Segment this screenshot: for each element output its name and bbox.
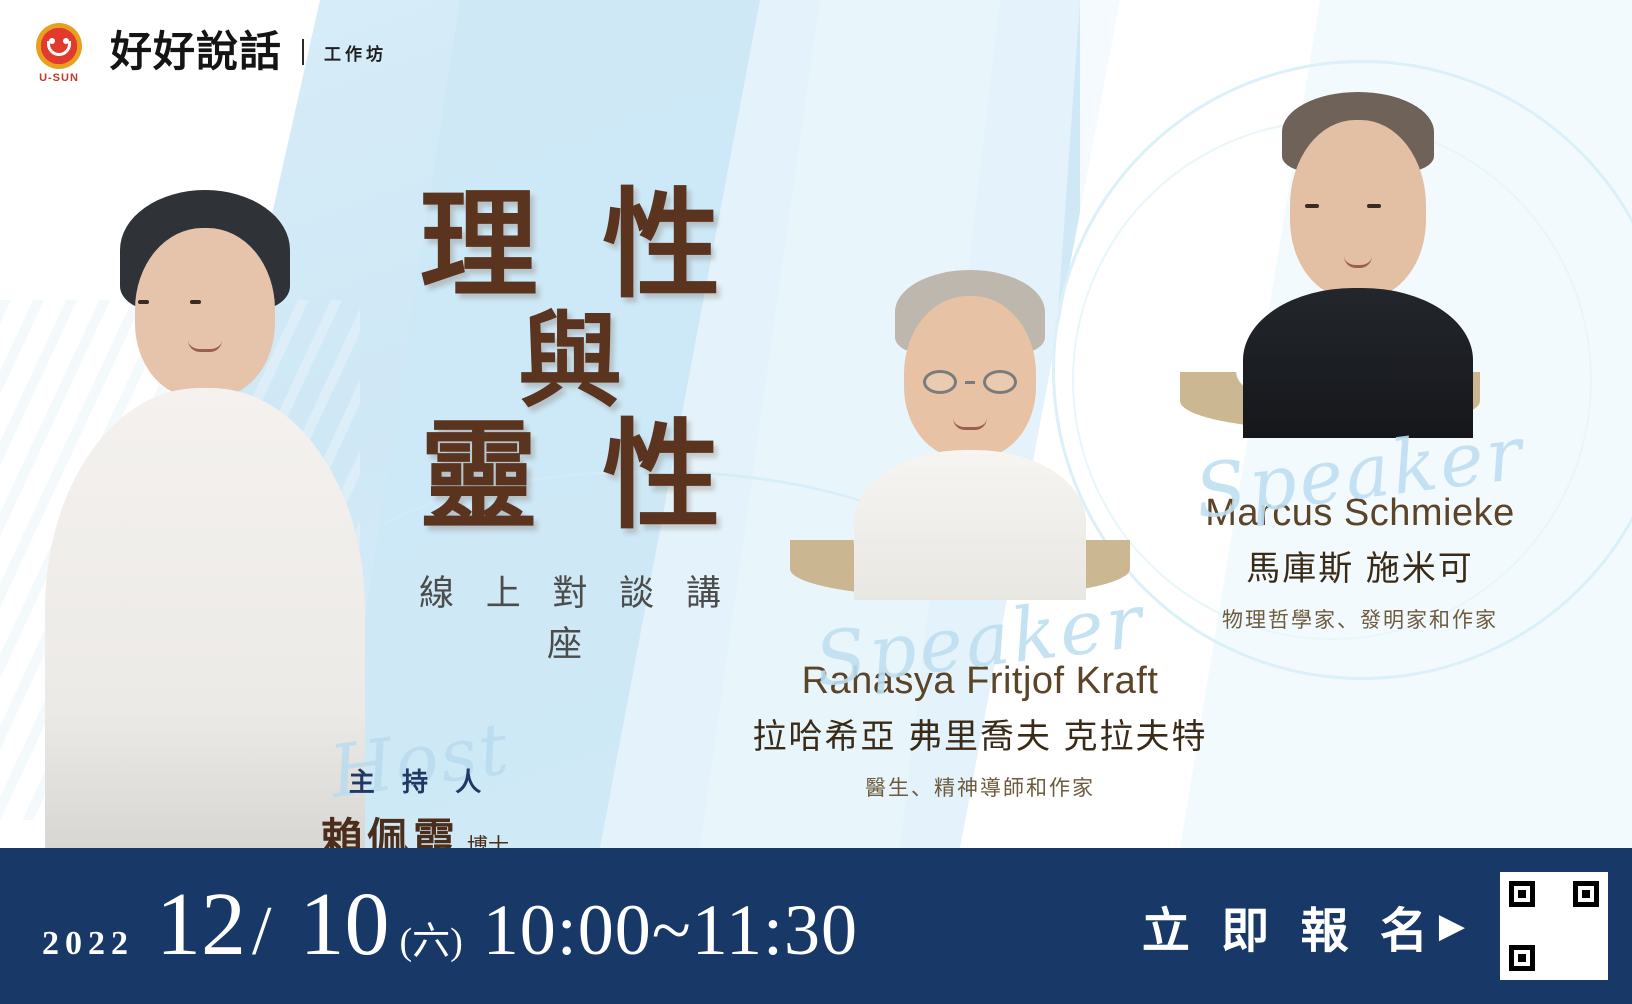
marcus-eye-right <box>1367 204 1381 208</box>
smiley-icon <box>36 23 82 69</box>
speaker-name-cn: 拉哈希亞 弗里喬夫 克拉夫特 <box>700 709 1260 758</box>
smiley-mouth-icon <box>47 41 71 56</box>
host-portrait-image <box>30 190 380 850</box>
qr-finder-bottom-left <box>1509 945 1535 971</box>
speaker-marcus-portrait-image <box>1235 92 1480 437</box>
qr-code-pattern <box>1507 879 1601 973</box>
speaker-role: 物理哲學家、發明家和作家 <box>1110 604 1610 634</box>
speaker-role: 醫生、精神導師和作家 <box>700 772 1260 802</box>
marcus-head <box>1290 120 1426 298</box>
brand-divider <box>302 39 304 65</box>
host-head <box>135 228 275 398</box>
register-button[interactable]: 立 即 報 名 ▶ <box>1142 891 1474 961</box>
qr-finder-top-left <box>1509 881 1535 907</box>
glasses-icon <box>923 370 1017 394</box>
event-poster: U-SUN 好好說話 工作坊 理 性 <box>0 0 1632 1004</box>
title-line-3: 靈 性 <box>400 416 740 539</box>
host-eye-left <box>138 300 149 304</box>
brand-name-cn: 好好說話 <box>110 31 282 73</box>
logo-wordmark: U-SUN <box>39 72 79 84</box>
event-day: 10 <box>299 880 389 970</box>
event-datetime: 2022 12 / 10 (六) 10:00~11:30 <box>42 880 858 972</box>
lens-bridge <box>965 381 975 384</box>
lens-right <box>983 370 1017 394</box>
event-time: 10:00~11:30 <box>483 889 858 972</box>
host-eye-right <box>190 300 201 304</box>
title-line-1: 理 性 <box>400 185 740 308</box>
title-subtitle: 線 上 對 談 講 座 <box>400 565 740 667</box>
title-line-2: 與 <box>400 308 740 416</box>
date-slash: / <box>252 892 271 972</box>
register-button-label: 立 即 報 名 <box>1142 891 1437 961</box>
usun-logo-card: U-SUN <box>22 16 96 88</box>
host-role-label: 主 持 人 <box>250 762 580 799</box>
speaker-rahasya-info: Speaker Rahasya Fritjof Kraft 拉哈希亞 弗里喬夫 … <box>700 660 1260 802</box>
brand-sub-label: 工作坊 <box>324 40 387 65</box>
speaker-rahasya-portrait-image <box>845 270 1095 600</box>
footer-bar: 2022 12 / 10 (六) 10:00~11:30 立 即 報 名 ▶ <box>0 848 1632 1004</box>
play-arrow-icon: ▶ <box>1439 906 1474 946</box>
speaker-marcus-info: Speaker Marcus Schmieke 馬庫斯 施米可 物理哲學家、發明… <box>1110 492 1610 634</box>
marcus-torso <box>1243 288 1473 438</box>
qr-finder-top-right <box>1573 881 1599 907</box>
registration-cta[interactable]: 立 即 報 名 ▶ <box>1142 872 1608 980</box>
lens-left <box>923 370 957 394</box>
event-year: 2022 <box>42 925 134 963</box>
event-weekday: (六) <box>399 910 462 965</box>
event-month: 12 <box>156 880 246 970</box>
brand-logo[interactable]: U-SUN 好好說話 工作坊 <box>22 16 387 88</box>
rahasya-torso <box>854 450 1086 600</box>
marcus-eye-left <box>1305 204 1319 208</box>
qr-code[interactable] <box>1500 872 1608 980</box>
speaker-name-cn: 馬庫斯 施米可 <box>1110 541 1610 590</box>
page-title: 理 性 與 靈 性 線 上 對 談 講 座 <box>400 185 740 667</box>
